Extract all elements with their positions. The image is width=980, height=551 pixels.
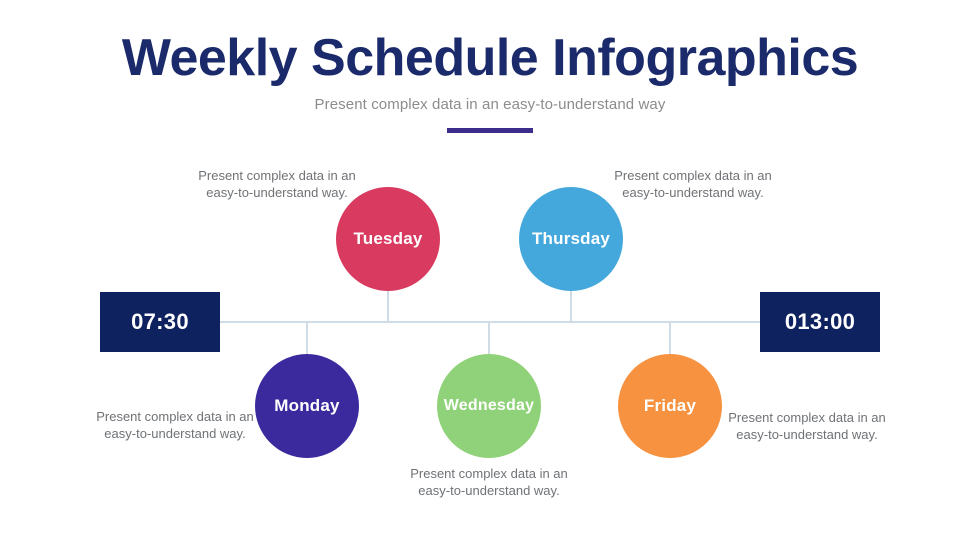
day-circle-friday[interactable]: Friday — [618, 354, 722, 458]
description-monday: Present complex data in an easy-to-under… — [90, 408, 260, 442]
start-time-badge[interactable]: 07:30 — [100, 292, 220, 352]
day-circle-wednesday[interactable]: Wednesday — [437, 354, 541, 458]
description-tuesday: Present complex data in an easy-to-under… — [192, 167, 362, 201]
description-thursday: Present complex data in an easy-to-under… — [608, 167, 778, 201]
day-circle-tuesday[interactable]: Tuesday — [336, 187, 440, 291]
day-circle-monday[interactable]: Monday — [255, 354, 359, 458]
day-circle-thursday[interactable]: Thursday — [519, 187, 623, 291]
page-subtitle: Present complex data in an easy-to-under… — [0, 96, 980, 113]
description-wednesday: Present complex data in an easy-to-under… — [404, 465, 574, 499]
description-friday: Present complex data in an easy-to-under… — [722, 409, 892, 443]
end-time-badge[interactable]: 013:00 — [760, 292, 880, 352]
accent-divider — [447, 128, 533, 133]
page-title: Weekly Schedule Infographics — [0, 30, 980, 86]
header: Weekly Schedule Infographics Present com… — [0, 30, 980, 133]
infographic-slide: Weekly Schedule Infographics Present com… — [0, 0, 980, 551]
